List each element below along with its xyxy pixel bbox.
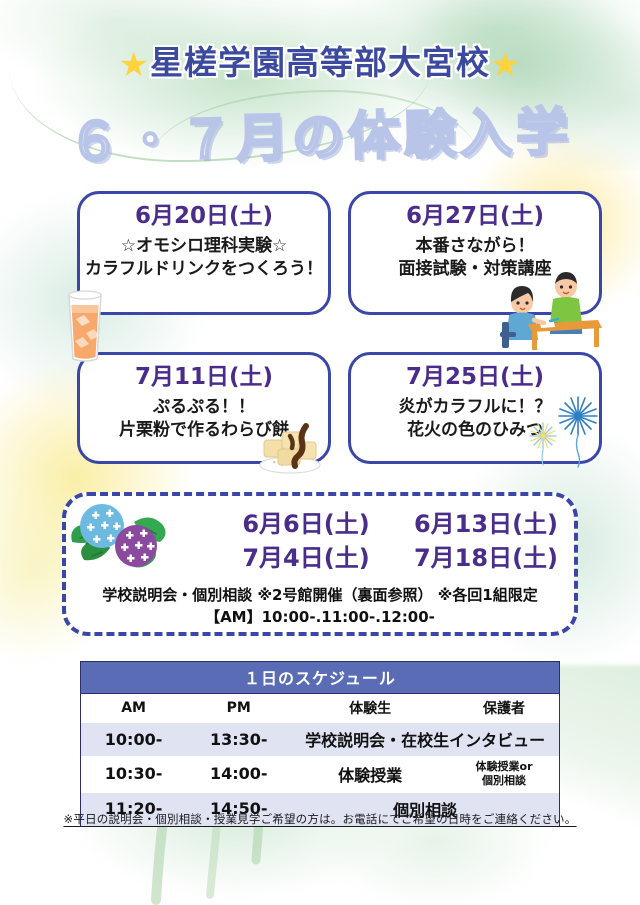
schedule-col-pm: PM <box>186 694 291 723</box>
table-row: 10:30- 14:00- 体験授業 体験授業or 個別相談 <box>81 756 559 793</box>
event-line1-0: ☆オモシロ理科実験☆ <box>80 235 328 258</box>
table-row: 10:00- 13:30- 学校説明会・在校生インタビュー <box>81 723 559 756</box>
footnote-text: ※平日の説明会・個別相談・授業見学ご希望の方は。お電話にてご希望の日時をご連絡く… <box>0 811 640 827</box>
event-date-3: 7月25日(土) <box>351 365 599 390</box>
schedule-am-0: 10:00- <box>81 723 186 756</box>
briefing-date-1: 6月13日(土) <box>396 508 576 540</box>
briefing-date-0: 6月6日(土) <box>216 508 396 540</box>
schedule-activity-0: 学校説明会・在校生インタビュー <box>291 723 559 756</box>
schedule-guardian-1: 体験授業or 個別相談 <box>449 756 559 793</box>
briefing-date-3: 7月18日(土) <box>396 542 576 574</box>
event-card-0[interactable]: 6月20日(土) ☆オモシロ理科実験☆ カラフルドリンクをつくろう！ <box>77 191 331 315</box>
event-line1-2: ぷるぷる！！ <box>80 396 328 419</box>
event-date-2: 7月11日(土) <box>80 365 328 390</box>
event-card-1[interactable]: 6月27日(土) 本番さながら！ 面接試験・対策講座 <box>348 191 602 315</box>
event-line2-0: カラフルドリンクをつくろう！ <box>80 258 328 281</box>
briefing-date-2: 7月4日(土) <box>216 542 396 574</box>
briefing-date-grid: 6月6日(土) 6月13日(土) 7月4日(土) 7月18日(土) <box>216 508 576 575</box>
event-date-1: 6月27日(土) <box>351 204 599 229</box>
event-date-0: 6月20日(土) <box>80 204 328 229</box>
schedule-header-row: AM PM 体験生 保護者 <box>81 694 559 723</box>
schedule-title: １日のスケジュール <box>81 662 559 694</box>
event-line1-3: 炎がカラフルに！？ <box>351 396 599 419</box>
schedule-guardian-1-line2: 個別相談 <box>449 774 559 788</box>
schedule-guardian-1-line1: 体験授業or <box>449 760 559 774</box>
poster-canvas: ★星槎学園高等部大宮校★ ６・７月の体験入学 6月20日(土) ☆オモシロ理科実… <box>0 0 640 905</box>
briefing-note-line1: 学校説明会・個別相談 ※2号館開催（裏面参照） ※各回1組限定 <box>66 584 574 605</box>
briefing-session-box[interactable]: 6月6日(土) 6月13日(土) 7月4日(土) 7月18日(土) 学校説明会・… <box>62 492 578 636</box>
daily-schedule-table: １日のスケジュール AM PM 体験生 保護者 10:00- 13:30- 学校… <box>80 661 560 827</box>
schedule-pm-1: 14:00- <box>186 756 291 793</box>
schedule-col-student: 体験生 <box>291 694 449 723</box>
event-line2-3: 花火の色のひみつ <box>351 419 599 442</box>
event-line2-2: 片栗粉で作るわらび餅 <box>80 419 328 442</box>
schedule-col-guardian: 保護者 <box>449 694 559 723</box>
schedule-student-1: 体験授業 <box>291 756 449 793</box>
event-card-2[interactable]: 7月11日(土) ぷるぷる！！ 片栗粉で作るわらび餅 <box>77 352 331 464</box>
event-line2-1: 面接試験・対策講座 <box>351 258 599 281</box>
schedule-am-1: 10:30- <box>81 756 186 793</box>
schedule-pm-0: 13:30- <box>186 723 291 756</box>
event-line1-1: 本番さながら！ <box>351 235 599 258</box>
event-card-3[interactable]: 7月25日(土) 炎がカラフルに！？ 花火の色のひみつ <box>348 352 602 464</box>
briefing-note-line2: 【AM】10:00-.11:00-.12:00- <box>66 606 574 627</box>
schedule-col-am: AM <box>81 694 186 723</box>
